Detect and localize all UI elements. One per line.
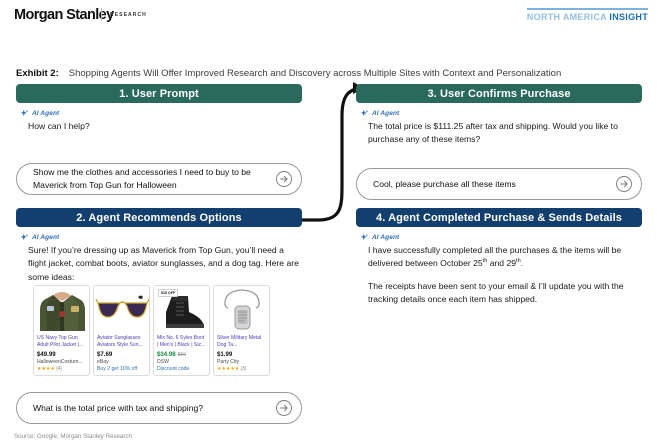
product-details: Aviator Sunglasses Aviators Style Sun...…: [94, 333, 149, 375]
agent-label-1: AI Agent: [32, 110, 59, 117]
division-label: RESEARCH: [110, 12, 147, 18]
product-image: [94, 286, 149, 333]
sparkle-icon: [360, 109, 369, 118]
agent-message-4a: I have successfully completed all the pu…: [368, 244, 642, 271]
flight-jacket-icon: [34, 286, 89, 333]
product-image: $15 OFF: [154, 286, 209, 333]
product-price-value: $34.98: [157, 351, 176, 358]
panel-user-confirms: 3. User Confirms Purchase AI Agent The t…: [356, 84, 642, 147]
send-arrow-icon[interactable]: [275, 399, 293, 417]
product-price: $34.98$50: [157, 351, 206, 358]
product-promo: Discount code: [157, 366, 206, 372]
product-rating-count: (4): [56, 366, 62, 372]
sparkle-icon: [360, 233, 369, 242]
badge-text-primary: NORTH AMERICA: [527, 12, 610, 22]
product-details: Mix No. 6 Syles Boot | Men's | Black | S…: [154, 333, 209, 375]
logo-divider: [101, 8, 102, 21]
agent-label-4: AI Agent: [372, 234, 399, 241]
panel-agent-completed: 4. Agent Completed Purchase & Sends Deta…: [356, 208, 642, 306]
product-stars: ★★★★★: [217, 366, 239, 372]
user-input-pill-2[interactable]: What is the total price with tax and shi…: [16, 392, 302, 424]
panel-agent-recommends: 2. Agent Recommends Options AI Agent Sur…: [16, 208, 302, 284]
product-title[interactable]: Silver Military Metal Dog Ta...: [217, 335, 266, 350]
panel-4-heading: 4. Agent Completed Purchase & Sends Deta…: [356, 208, 642, 227]
product-price: $1.99: [217, 351, 266, 358]
dog-tag-icon: [214, 286, 269, 333]
exhibit-title-row: Exhibit 2:Shopping Agents Will Offer Imp…: [16, 63, 561, 81]
badge-text: NORTH AMERICA INSIGHT: [527, 12, 648, 22]
product-card[interactable]: Aviator Sunglasses Aviators Style Sun...…: [93, 285, 150, 376]
product-card[interactable]: $15 OFF Mix No. 6 Syles Boot | Men's | B…: [153, 285, 210, 376]
agent-message-4b: The receipts have been sent to your emai…: [368, 280, 642, 307]
agent-tag-1: AI Agent: [20, 109, 302, 118]
agent-tag-2: AI Agent: [20, 233, 302, 242]
agent-tag-4: AI Agent: [360, 233, 642, 242]
product-rating-count: (3): [241, 366, 247, 372]
product-rating: ★★★★ (4): [37, 366, 86, 372]
send-arrow-icon[interactable]: [615, 175, 633, 193]
agent-tag-3: AI Agent: [360, 109, 642, 118]
user-input-text-2: What is the total price with tax and shi…: [33, 402, 275, 415]
product-title[interactable]: Mix No. 6 Syles Boot | Men's | Black | S…: [157, 335, 206, 350]
aviator-sunglasses-icon: [94, 286, 149, 333]
user-input-pill-1[interactable]: Show me the clothes and accessories I ne…: [16, 163, 302, 195]
product-old-price: $50: [178, 352, 186, 358]
product-merchant: DSW: [157, 359, 206, 365]
page-header: Morgan Stanley RESEARCH NORTH AMERICA IN…: [0, 0, 660, 30]
product-badge: $15 OFF: [158, 289, 178, 297]
source-note: Source: Google, Morgan Stanley Research: [14, 433, 132, 440]
product-stars: ★★★★: [37, 366, 55, 372]
user-input-text-1: Show me the clothes and accessories I ne…: [33, 166, 275, 192]
product-merchant: eBay: [97, 359, 146, 365]
agent-label-2: AI Agent: [32, 234, 59, 241]
product-details: Silver Military Metal Dog Ta... $1.99 Pa…: [214, 333, 269, 375]
agent-message-2: Sure! If you’re dressing up as Maverick …: [28, 244, 302, 284]
product-merchant: Party City: [217, 359, 266, 365]
product-details: US Navy Top Gun Adult Pilot Jacket |... …: [34, 333, 89, 375]
badge-rule: [527, 8, 648, 10]
product-promo: Buy 2 get 10% off: [97, 366, 146, 372]
badge-text-accent: INSIGHT: [609, 12, 648, 22]
product-card[interactable]: US Navy Top Gun Adult Pilot Jacket |... …: [33, 285, 90, 376]
sparkle-icon: [20, 233, 29, 242]
agent-label-3: AI Agent: [372, 110, 399, 117]
panel-2-heading: 2. Agent Recommends Options: [16, 208, 302, 227]
product-results-strip: US Navy Top Gun Adult Pilot Jacket |... …: [33, 285, 270, 376]
product-rating: ★★★★★ (3): [217, 366, 266, 372]
product-title[interactable]: US Navy Top Gun Adult Pilot Jacket |...: [37, 335, 86, 350]
panel-user-prompt: 1. User Prompt AI Agent How can I help?: [16, 84, 302, 133]
user-input-text-3: Cool, please purchase all these items: [373, 178, 615, 191]
agent-message-3: The total price is $111.25 after tax and…: [368, 120, 642, 147]
product-price: $7.69: [97, 351, 146, 358]
exhibit-label: Exhibit 2:: [16, 68, 59, 79]
product-merchant: HalloweenCostum...: [37, 359, 86, 365]
agent-message-1: How can I help?: [28, 120, 302, 133]
sparkle-icon: [20, 109, 29, 118]
send-arrow-icon[interactable]: [275, 170, 293, 188]
user-input-pill-3[interactable]: Cool, please purchase all these items: [356, 168, 642, 200]
panel-1-heading: 1. User Prompt: [16, 84, 302, 103]
product-price: $49.99: [37, 351, 86, 358]
exhibit-page: Morgan Stanley RESEARCH NORTH AMERICA IN…: [0, 0, 660, 446]
product-image: [34, 286, 89, 333]
product-card[interactable]: Silver Military Metal Dog Ta... $1.99 Pa…: [213, 285, 270, 376]
exhibit-title: Shopping Agents Will Offer Improved Rese…: [69, 68, 561, 79]
product-image: [214, 286, 269, 333]
product-title[interactable]: Aviator Sunglasses Aviators Style Sun...: [97, 335, 146, 350]
north-america-insight-badge: NORTH AMERICA INSIGHT: [527, 8, 648, 22]
morgan-stanley-logo: Morgan Stanley: [14, 7, 114, 23]
panel-3-heading: 3. User Confirms Purchase: [356, 84, 642, 103]
